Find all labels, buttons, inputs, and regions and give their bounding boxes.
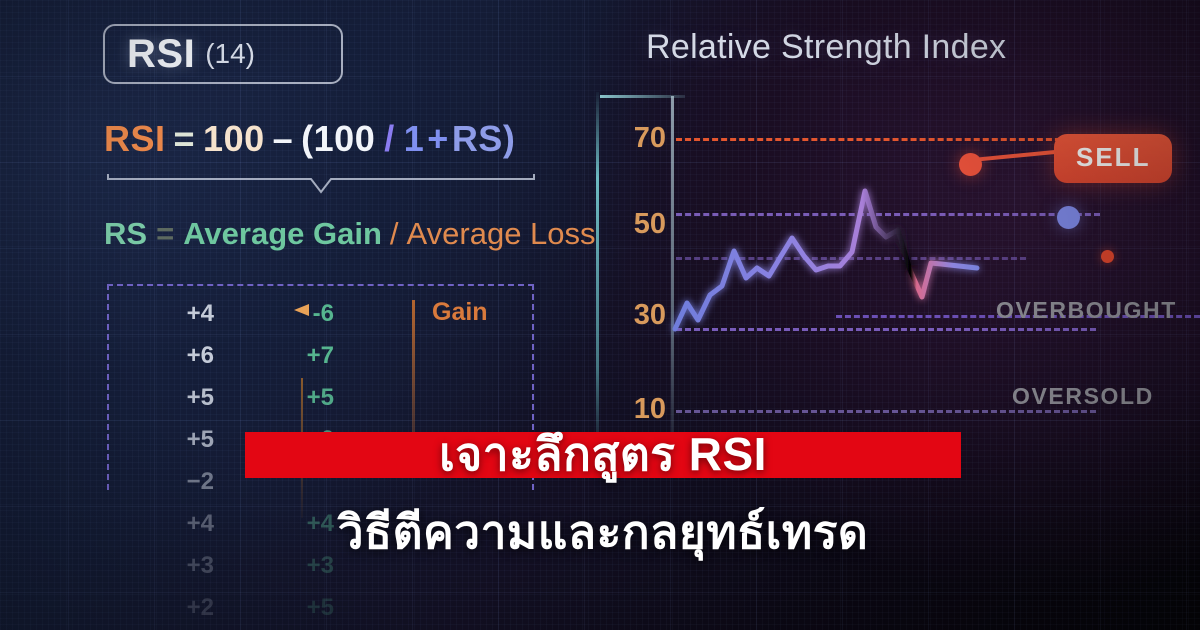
- formula-minus: –: [273, 118, 294, 159]
- rs-formula-equals: =: [156, 216, 174, 251]
- sell-signal-marker[interactable]: [959, 153, 982, 176]
- table-cell-change: +5: [104, 426, 214, 454]
- secondary-marker[interactable]: [1101, 250, 1114, 263]
- panel-divider-line: [596, 92, 599, 437]
- table-row: +5 +5: [104, 377, 544, 419]
- table-cell-change: +4: [104, 300, 214, 328]
- y-tick-50: 50: [618, 208, 666, 241]
- formula-hundred-b: 100: [314, 118, 376, 159]
- headline-line-1: เจาะลึกสูตร RSI: [245, 418, 961, 491]
- formula-one: 1: [404, 118, 425, 159]
- formula-open-paren: (: [301, 118, 314, 159]
- formula-rs-close: RS): [452, 118, 516, 159]
- rs-formula-lhs: RS: [104, 216, 147, 251]
- rs-formula-gain: Average Gain: [183, 216, 382, 251]
- formula-connector-brace: [106, 172, 536, 194]
- gain-arrow-icon: [292, 302, 452, 318]
- current-value-marker[interactable]: [1057, 206, 1080, 229]
- rsi-formula: RSI=100–(100/1+RS): [104, 118, 515, 160]
- oversold-zone-label: OVERSOLD: [1012, 383, 1154, 410]
- formula-hundred-a: 100: [203, 118, 265, 159]
- table-row: +2 +5: [104, 587, 544, 629]
- rsi-indicator-badge: RSI (14): [103, 24, 343, 84]
- rs-formula: RS=Average Gain/Average Loss: [104, 216, 596, 252]
- rs-formula-loss: Average Loss: [407, 216, 596, 251]
- chart-title: Relative Strength Index: [646, 28, 1006, 67]
- sell-signal-badge[interactable]: SELL: [1054, 134, 1172, 183]
- headline-line-2: วิธีตีความและกลยุทธ์เทรด: [245, 496, 961, 569]
- table-cell-change: +5: [104, 384, 214, 412]
- y-tick-30: 30: [618, 299, 666, 332]
- table-row: +6 +7: [104, 335, 544, 377]
- table-cell-gain: +5: [214, 594, 334, 622]
- table-cell-change: −2: [104, 468, 214, 496]
- table-cell-change: +3: [104, 552, 214, 580]
- rsi-badge-period: (14): [205, 38, 255, 70]
- formula-equals: =: [174, 118, 196, 159]
- formula-slash: /: [384, 118, 395, 159]
- table-cell-change: +4: [104, 510, 214, 538]
- table-cell-gain: +5: [214, 384, 334, 412]
- table-cell-gain: +7: [214, 342, 334, 370]
- y-tick-70: 70: [618, 122, 666, 155]
- table-cell-change: +6: [104, 342, 214, 370]
- overbought-zone-label: OVERBOUGHT: [996, 297, 1177, 324]
- poster-canvas: RSI (14) RSI=100–(100/1+RS) RS=Average G…: [0, 0, 1200, 630]
- formula-rsi-lhs: RSI: [104, 118, 166, 159]
- gain-annotation-label: Gain: [432, 298, 488, 327]
- rsi-badge-symbol: RSI: [127, 32, 195, 77]
- formula-plus: +: [427, 118, 449, 159]
- table-cell-change: +2: [104, 594, 214, 622]
- rs-formula-slash: /: [390, 216, 399, 251]
